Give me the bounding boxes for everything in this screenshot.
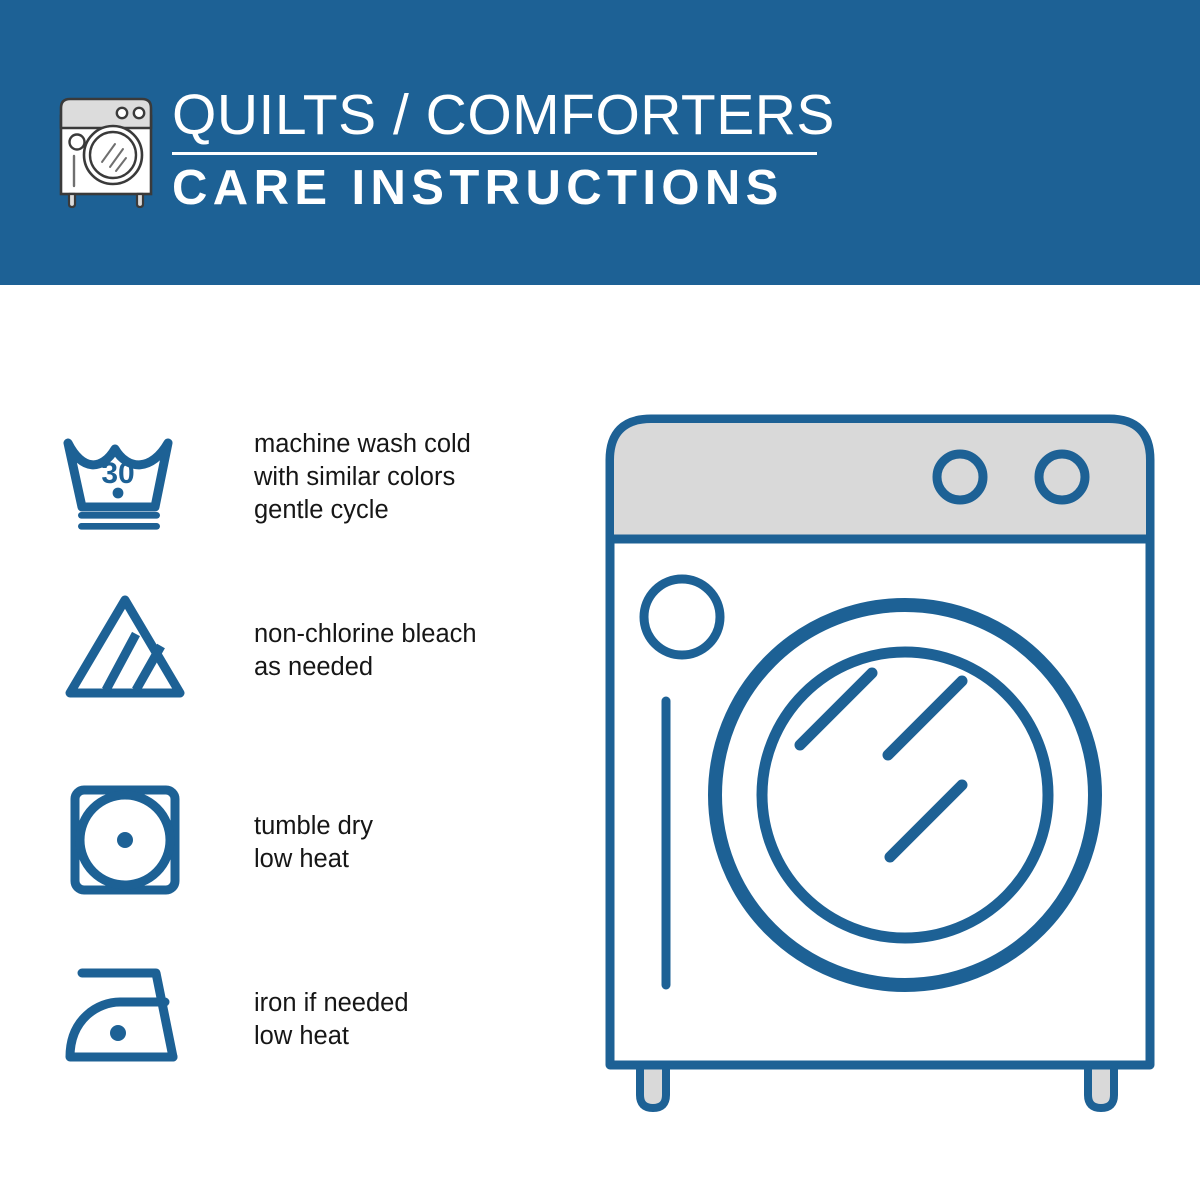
care-text-line: machine wash cold [254,428,471,461]
care-text-line: as needed [254,651,477,684]
wash-temperature-label: 30 [101,457,134,490]
knob-left [937,454,983,500]
machine-wash-30-gentle-icon: 30 [60,415,190,530]
care-instructions-infographic: QUILTS / COMFORTERS CARE INSTRUCTIONS 30 [0,0,1200,1200]
front-load-washing-machine-illustration [600,405,1160,1115]
care-row-machine-wash: 30 machine wash cold with similar colors… [60,415,471,530]
page-title-primary: QUILTS / COMFORTERS [172,84,832,146]
care-row-iron: iron if needed low heat [60,957,409,1072]
care-text-iron: iron if needed low heat [190,957,409,1053]
care-row-tumble-dry: tumble dry low heat [60,782,373,897]
header-title-block: QUILTS / COMFORTERS CARE INSTRUCTIONS [172,84,832,217]
iron-low-heat-icon [60,957,190,1072]
care-text-tumble-dry: tumble dry low heat [190,782,373,876]
tumble-dry-low-icon [60,782,190,897]
care-text-line: low heat [254,843,373,876]
non-chlorine-bleach-icon [60,588,190,703]
care-text-line: with similar colors [254,461,471,494]
care-text-line: gentle cycle [254,494,471,527]
detergent-indicator [644,579,720,655]
header-banner: QUILTS / COMFORTERS CARE INSTRUCTIONS [0,0,1200,285]
page-title-secondary: CARE INSTRUCTIONS [172,159,832,217]
care-text-machine-wash: machine wash cold with similar colors ge… [190,415,471,527]
washing-machine-icon [52,82,160,210]
door-inner-ring [762,652,1048,938]
care-text-bleach: non-chlorine bleach as needed [190,588,477,684]
knob-right [1039,454,1085,500]
care-text-line: tumble dry [254,810,373,843]
care-text-line: non-chlorine bleach [254,618,477,651]
care-text-line: iron if needed [254,987,409,1020]
care-instruction-list: 30 machine wash cold with similar colors… [0,285,560,1200]
care-text-line: low heat [254,1020,409,1053]
title-divider [172,152,817,155]
care-row-bleach: non-chlorine bleach as needed [60,588,477,703]
